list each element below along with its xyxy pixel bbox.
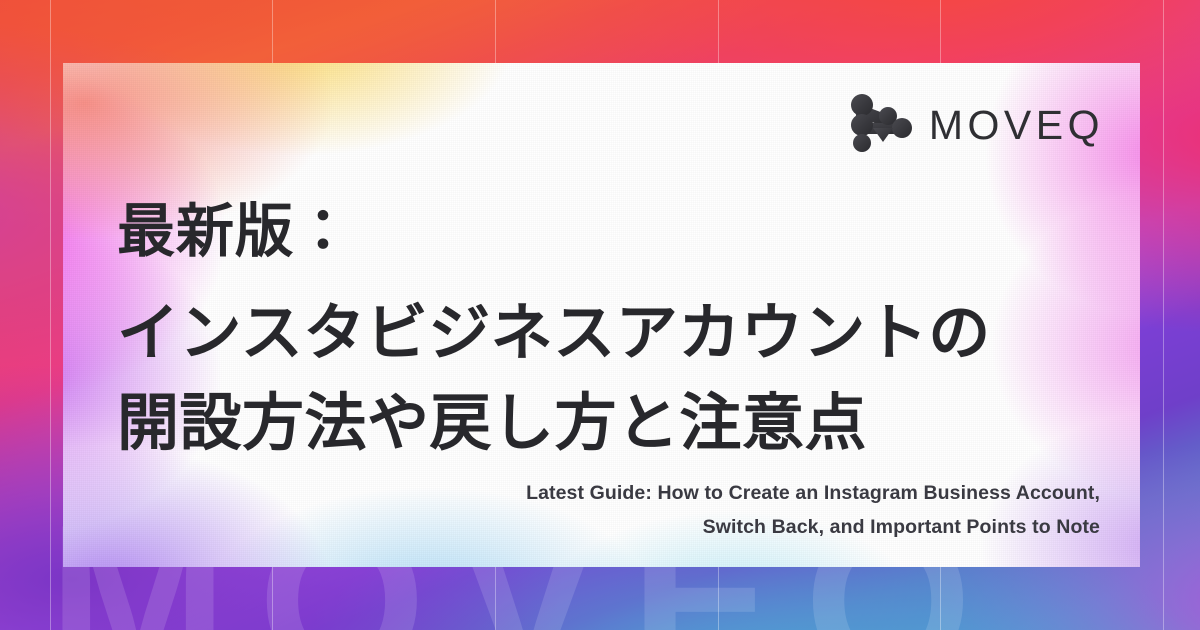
- page-title: 最新版： インスタビジネスアカウントの 開設方法や戻し方と注意点: [117, 203, 991, 455]
- subtitle-line-2: Switch Back, and Important Points to Not…: [526, 510, 1100, 545]
- cover-canvas: MOVEQ: [0, 0, 1200, 630]
- card-content: MOVEQ 最新版： インスタビジネスアカウントの 開設方法や戻し方と注意点 L…: [63, 63, 1140, 567]
- headline-line-1: 最新版：: [117, 203, 991, 261]
- headline-line-2: インスタビジネスアカウントの: [117, 303, 991, 365]
- brand-wordmark: MOVEQ: [929, 105, 1104, 146]
- brand-logo[interactable]: MOVEQ: [851, 94, 1104, 157]
- network-nodes-icon: [851, 94, 913, 157]
- subtitle-line-1: Latest Guide: How to Create an Instagram…: [526, 476, 1100, 511]
- content-card: MOVEQ 最新版： インスタビジネスアカウントの 開設方法や戻し方と注意点 L…: [63, 63, 1140, 567]
- headline-line-3: 開設方法や戻し方と注意点: [117, 393, 991, 455]
- subtitle: Latest Guide: How to Create an Instagram…: [526, 476, 1100, 545]
